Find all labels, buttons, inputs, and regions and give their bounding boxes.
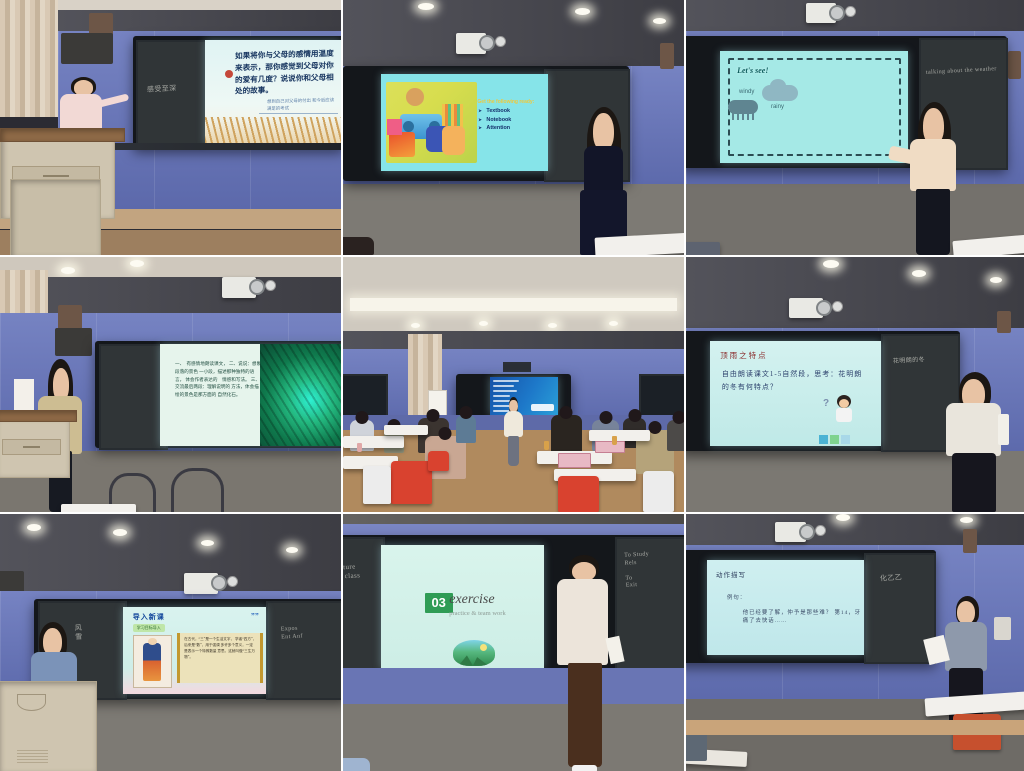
blouse: [946, 403, 1001, 456]
slide-nature-photo: [260, 344, 341, 446]
chalkboard-right: To Study Rels To Exit: [615, 537, 684, 675]
drink-cup: [544, 441, 549, 450]
chalk-text: 花明朗的冬: [893, 358, 925, 367]
chair: [391, 461, 432, 504]
slide-panel-2: Get the following ready: Textbook Notebo…: [381, 74, 548, 171]
illustration-character-head: [406, 88, 424, 106]
ceiling-projector: [789, 298, 823, 318]
chair: [558, 476, 599, 512]
torso: [584, 146, 623, 196]
wall-speaker: [1008, 51, 1022, 79]
drink-cup: [357, 443, 362, 452]
desk: [61, 504, 136, 512]
head: [649, 421, 662, 434]
paper-stack: [14, 379, 34, 410]
checklist-item: Textbook: [486, 108, 544, 114]
earth-icon: [453, 640, 495, 666]
chalkboard-right: Expos Ent Anf: [266, 601, 341, 700]
slide-grass-decor: [205, 117, 341, 144]
slide-title: 导入新课: [133, 612, 165, 622]
collage-panel-middle-left[interactable]: 一、 有感情地朗读课文， 二、说说：想象段落的景色 一小段，描述那种独特的语言，…: [0, 257, 341, 512]
teacher-figure: [946, 372, 1004, 512]
thinking-girl-icon: ?: [831, 395, 857, 429]
checklist-heading: Get the following ready:: [477, 99, 544, 105]
slide-body: 在古代，“三”是一个生活文字， 学者“四方”，后来是“数”，用于强调 多许多个意…: [184, 636, 256, 660]
jacket: [557, 579, 609, 665]
slide-panel-3: Let's see! windy rainy: [720, 51, 908, 163]
chalkboard-left: 感受至深: [136, 40, 215, 149]
head: [439, 427, 452, 440]
projector-camera: [815, 525, 826, 536]
student-figure: [554, 555, 615, 771]
collage-panel-bottom-right[interactable]: 化乙乙 动作描写 例句： 他已经要了解，仲予是那些难？ 第14，牙痛了去快话……: [686, 514, 1024, 771]
slide-illustration: [133, 635, 172, 688]
collage-panel-top-right[interactable]: talking about the weather Let's see! win…: [686, 0, 1024, 255]
podium: [0, 415, 70, 478]
lower-wall: [343, 704, 684, 771]
audience-head: [343, 758, 370, 771]
bullet-dot: [225, 70, 233, 78]
audience-person: [667, 420, 684, 451]
icon-face: [839, 399, 849, 408]
podium-drawer: [2, 439, 61, 454]
head: [560, 406, 573, 419]
slide-illustration: [386, 82, 478, 163]
section-title: exercise: [449, 592, 494, 608]
blouse: [945, 622, 986, 671]
podium-base: [10, 179, 101, 256]
ceiling-light: [130, 260, 144, 267]
slide-panel-5: [490, 377, 558, 415]
upper-dark-wall: [0, 514, 341, 601]
chair-back: [686, 242, 720, 255]
audience-head: [343, 237, 374, 255]
wall-device: [994, 617, 1011, 640]
question-mark-icon: ?: [823, 398, 829, 409]
ceiling-light: [960, 517, 973, 523]
table-sign: [595, 441, 624, 453]
photo-collage-grid: 感受至深 如果将你与父母的感情用温度来表示，那你感觉到父母对你的爱有几度？说说你…: [0, 0, 1024, 767]
weather-word: rainy: [771, 104, 784, 110]
desk: [589, 430, 650, 440]
slide-panel-9: 动作描写 例句： 他已经要了解，仲予是那些难？ 第14，牙痛了去快话……: [707, 560, 864, 655]
chalkboard-left: nature in class: [343, 537, 385, 675]
desk: [343, 436, 404, 449]
projector-lens: [799, 524, 815, 540]
wall-monitor: [61, 33, 112, 64]
illustration-box: [387, 119, 402, 135]
drink-cup: [612, 436, 617, 445]
chalk-text: talking about the weather: [926, 66, 997, 77]
slide-rule: [259, 113, 338, 114]
legs: [916, 189, 950, 255]
illustration-figure: [143, 643, 161, 680]
weather-word: windy: [739, 89, 754, 95]
slide-panel-7: 导入新课 ”” 学习目标导入 在古代，“三”是一个生活文字， 学者“四方”，后来…: [123, 607, 266, 694]
table-sign: [558, 453, 591, 468]
wall-base: [343, 668, 684, 709]
presentation-screen[interactable]: 一、 有感情地朗读课文， 二、说说：想象段落的景色 一小段，描述那种独特的语言，…: [160, 344, 341, 446]
chair: [643, 471, 674, 512]
ceiling-light: [653, 18, 666, 24]
presentation-screen[interactable]: Get the following ready: Textbook Notebo…: [381, 74, 548, 171]
slide-note-panel: 在古代，“三”是一个生活文字， 学者“四方”，后来是“数”，用于强调 多许多个意…: [177, 633, 263, 684]
presentation-screen[interactable]: 03 exercise practice & team work: [381, 545, 545, 668]
skirt: [952, 453, 996, 512]
collage-panel-bottom-center[interactable]: nature in class To Study Rels To Exit 03…: [343, 514, 684, 771]
head: [672, 411, 684, 424]
ceiling-light: [201, 540, 214, 546]
slide-lead: 例句：: [727, 593, 746, 601]
head: [628, 409, 641, 422]
checklist-item: Attention: [486, 125, 544, 131]
slide-card: [531, 404, 554, 411]
audience-person: [456, 415, 476, 443]
slide-checklist: Get the following ready: Textbook Notebo…: [477, 99, 544, 133]
presentation-screen[interactable]: 如果将你与父母的感情用温度来表示，那你感觉到父母对你的爱有几度？说说你和父母相处…: [205, 40, 341, 145]
slide-body: 自由朗读课文1-5自然段，思考：花明朗的冬有何特点？: [722, 368, 866, 393]
illustration-cloth: [389, 132, 415, 156]
chair: [428, 451, 448, 471]
section-subtitle: practice & team work: [449, 610, 506, 617]
ceiling-light: [609, 321, 618, 326]
chair: [363, 466, 390, 504]
collage-panel-middle-center[interactable]: [343, 257, 684, 512]
collage-panel-bottom-left[interactable]: 风 雪 Expos Ent Anf 导入新课 ”” 学习目标导入 在古代，“三”…: [0, 514, 341, 771]
ceiling-projector: [184, 573, 218, 594]
ceiling-light: [823, 260, 839, 268]
quote-mark-icon: ””: [251, 612, 259, 621]
wall-speaker: [660, 43, 674, 69]
projector-lens: [829, 5, 845, 21]
presentation-screen[interactable]: 顶雨之特点 自由朗读课文1-5自然段，思考：花明朗的冬有何特点？ ?: [710, 341, 881, 446]
shoes: [572, 765, 598, 771]
ceiling-projector: [222, 277, 256, 297]
audience-person: [551, 415, 582, 453]
wall-sign: [503, 362, 530, 372]
illustration-child: [442, 126, 464, 155]
slide-title: 顶雨之特点: [720, 350, 768, 361]
chalk-text: To Study Rels To Exit: [624, 552, 651, 591]
ceiling-light: [912, 270, 926, 277]
presentation-screen[interactable]: 动作描写 例句： 他已经要了解，仲予是那些难？ 第14，牙痛了去快话……: [707, 560, 864, 655]
ceiling-projector: [456, 33, 487, 53]
collage-panel-top-left[interactable]: 感受至深 如果将你与父母的感情用温度来表示，那你感觉到父母对你的爱有几度？说说你…: [0, 0, 341, 255]
collage-panel-top-center[interactable]: Get the following ready: Textbook Notebo…: [343, 0, 684, 255]
head: [599, 411, 612, 424]
ceiling-projector: [806, 3, 837, 23]
cardigan: [910, 139, 956, 191]
slide-decor-squares: [819, 435, 850, 444]
chalkboard-left: [99, 344, 168, 450]
slide-tag: 学习目标导入: [133, 624, 165, 632]
windy-cloud-icon: [762, 85, 798, 101]
podium-top: [0, 410, 77, 422]
teacher-figure: [908, 102, 963, 255]
desk: [384, 425, 428, 435]
chalk-text: Expos Ent Anf: [281, 626, 303, 642]
upper-dark-wall: [686, 257, 1024, 334]
wall-speaker: [997, 311, 1011, 334]
slide-panel-4: 一、 有感情地朗读课文， 二、说说：想象段落的景色 一小段，描述那种独特的语言，…: [160, 344, 341, 446]
chalk-text: nature in class: [343, 563, 360, 582]
curtain: [0, 0, 58, 117]
checklist-item: Notebook: [486, 117, 544, 123]
decor-square: [841, 435, 850, 444]
torso: [504, 411, 523, 437]
slide-body: 他已经要了解，仲予是那些难？ 第14，牙痛了去快话……: [743, 608, 864, 624]
presentation-screen[interactable]: 导入新课 ”” 学习目标导入 在古代，“三”是一个生活文字， 学者“四方”，后来…: [123, 607, 266, 694]
papers: [998, 414, 1008, 445]
ceiling-projector: [775, 522, 806, 543]
podium: [0, 681, 97, 771]
rainy-cloud-icon: [728, 100, 758, 114]
ceiling-light: [575, 8, 590, 15]
projector-camera: [832, 301, 843, 312]
slide-panel-1: 如果将你与父母的感情用温度来表示，那你感觉到父母对你的爱有几度？说说你和父母相处…: [205, 40, 341, 145]
ceiling-light-strip: [350, 298, 677, 311]
podium-vent: [17, 750, 48, 763]
chair-back: [171, 468, 225, 512]
decor-square: [830, 435, 839, 444]
projector-lens: [816, 300, 832, 316]
head: [355, 411, 368, 424]
step: [686, 720, 1024, 735]
chalk-text: 化乙乙: [879, 573, 902, 583]
slide-sub-text: 想到自己对父母的付出 和今后应该满足的考试: [267, 97, 335, 112]
projector-camera: [845, 6, 856, 17]
ceiling-light: [479, 321, 488, 326]
slide-main-text: 如果将你与父母的感情用温度来表示，那你感觉到父母对你的爱有几度？说说你和父母相处…: [235, 47, 339, 97]
legs: [508, 436, 519, 466]
upper-dark-wall: [343, 0, 684, 71]
head: [459, 406, 472, 419]
collage-panel-middle-right[interactable]: 花明朗的冬 顶雨之特点 自由朗读课文1-5自然段，思考：花明朗的冬有何特点？ ?: [686, 257, 1024, 512]
icon-body: [836, 408, 852, 422]
trousers: [568, 663, 602, 767]
ceiling-light: [418, 3, 434, 10]
wall-monitor: [55, 328, 93, 356]
presentation-screen[interactable]: Let's see! windy rainy: [720, 51, 908, 163]
slide-panel-8: 03 exercise practice & team work: [381, 545, 545, 668]
slide-panel-6: 顶雨之特点 自由朗读课文1-5自然段，思考：花明朗的冬有何特点？ ?: [710, 341, 881, 446]
sun-icon: [480, 644, 487, 651]
slide-text: 一、 有感情地朗读课文， 二、说说：想象段落的景色 一小段，描述那种独特的语言，…: [175, 360, 263, 399]
chalk-text: 感受至深: [147, 85, 177, 95]
projection-screen[interactable]: [490, 377, 558, 415]
presenter-figure: [503, 397, 523, 466]
wall-speaker: [963, 529, 977, 552]
slide-title: 动作描写: [716, 569, 746, 579]
slide-title: Let's see!: [737, 66, 768, 75]
decor-square: [819, 435, 828, 444]
head: [427, 409, 440, 422]
teacher-figure: [578, 107, 633, 255]
podium-top: [0, 128, 125, 143]
